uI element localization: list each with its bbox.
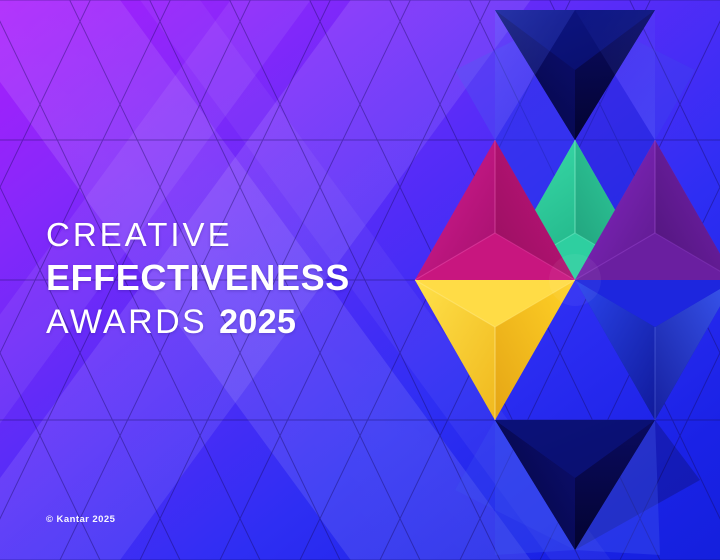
copyright-notice: © Kantar 2025 xyxy=(46,514,115,525)
facet-blue-right xyxy=(575,280,720,420)
title-block: CREATIVE EFFECTIVENESS AWARDS2025 xyxy=(46,218,466,339)
title-line-creative: CREATIVE xyxy=(46,218,466,251)
poster-canvas: CREATIVE EFFECTIVENESS AWARDS2025 © Kant… xyxy=(0,0,720,560)
title-line-awards: AWARDS2025 xyxy=(46,305,466,339)
title-line-effectiveness: EFFECTIVENESS xyxy=(46,260,466,296)
title-word-awards: AWARDS xyxy=(46,303,207,341)
title-word-year: 2025 xyxy=(219,303,296,341)
